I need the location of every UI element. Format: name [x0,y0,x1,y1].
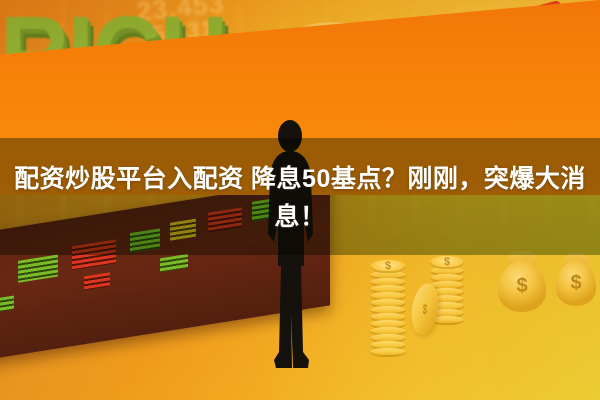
tint-band-bottom [0,255,600,400]
poster-canvas: 23.453 5.431 54 98.675 874.345 5.309 2.3… [0,0,600,400]
headline-text: 配资炒股平台入配资 降息50基点？刚刚，突爆大消息！ [0,160,600,236]
tint-band-top [0,0,600,138]
